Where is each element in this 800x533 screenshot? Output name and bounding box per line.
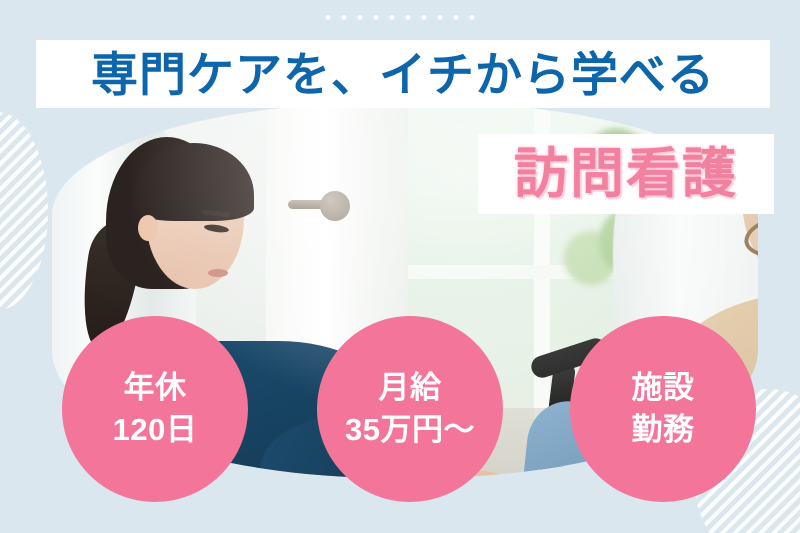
- dot-decoration: [326, 15, 331, 20]
- dot-decoration: [470, 15, 475, 20]
- door-handle-knob: [320, 191, 350, 221]
- badge-line-2: 35万円〜: [345, 409, 475, 451]
- dot-decoration: [358, 15, 363, 20]
- dot-decoration: [406, 15, 411, 20]
- dot-decoration: [454, 15, 459, 20]
- badge-monthly-salary[interactable]: 月給 35万円〜: [317, 316, 503, 502]
- badge-line-2: 120日: [113, 409, 198, 451]
- dot-decoration: [390, 15, 395, 20]
- subtitle-text: 訪問看護: [514, 147, 738, 201]
- striped-blob-left-decoration: [0, 112, 48, 310]
- nurse-ear: [138, 215, 158, 241]
- dot-decoration: [422, 15, 427, 20]
- headline-band: 専門ケアを、イチから学べる: [36, 40, 770, 108]
- badge-line-1: 月給: [379, 367, 442, 409]
- badge-line-2: 勤務: [632, 409, 695, 451]
- badge-line-1: 施設: [632, 367, 695, 409]
- dot-decoration: [438, 15, 443, 20]
- dot-decoration: [374, 15, 379, 20]
- subtitle-band: 訪問看護: [478, 134, 774, 214]
- badge-annual-holidays[interactable]: 年休 120日: [62, 316, 248, 502]
- recruitment-banner: 専門ケアを、イチから学べる 訪問看護 年休 120日 月給 35万円〜 施設 勤…: [0, 0, 800, 533]
- badge-line-1: 年休: [124, 367, 187, 409]
- badge-facility-work[interactable]: 施設 勤務: [570, 316, 756, 502]
- nurse-lips: [208, 269, 228, 277]
- dot-decoration: [342, 15, 347, 20]
- dot-row-decoration: [326, 15, 475, 20]
- headline-text: 専門ケアを、イチから学べる: [91, 51, 715, 98]
